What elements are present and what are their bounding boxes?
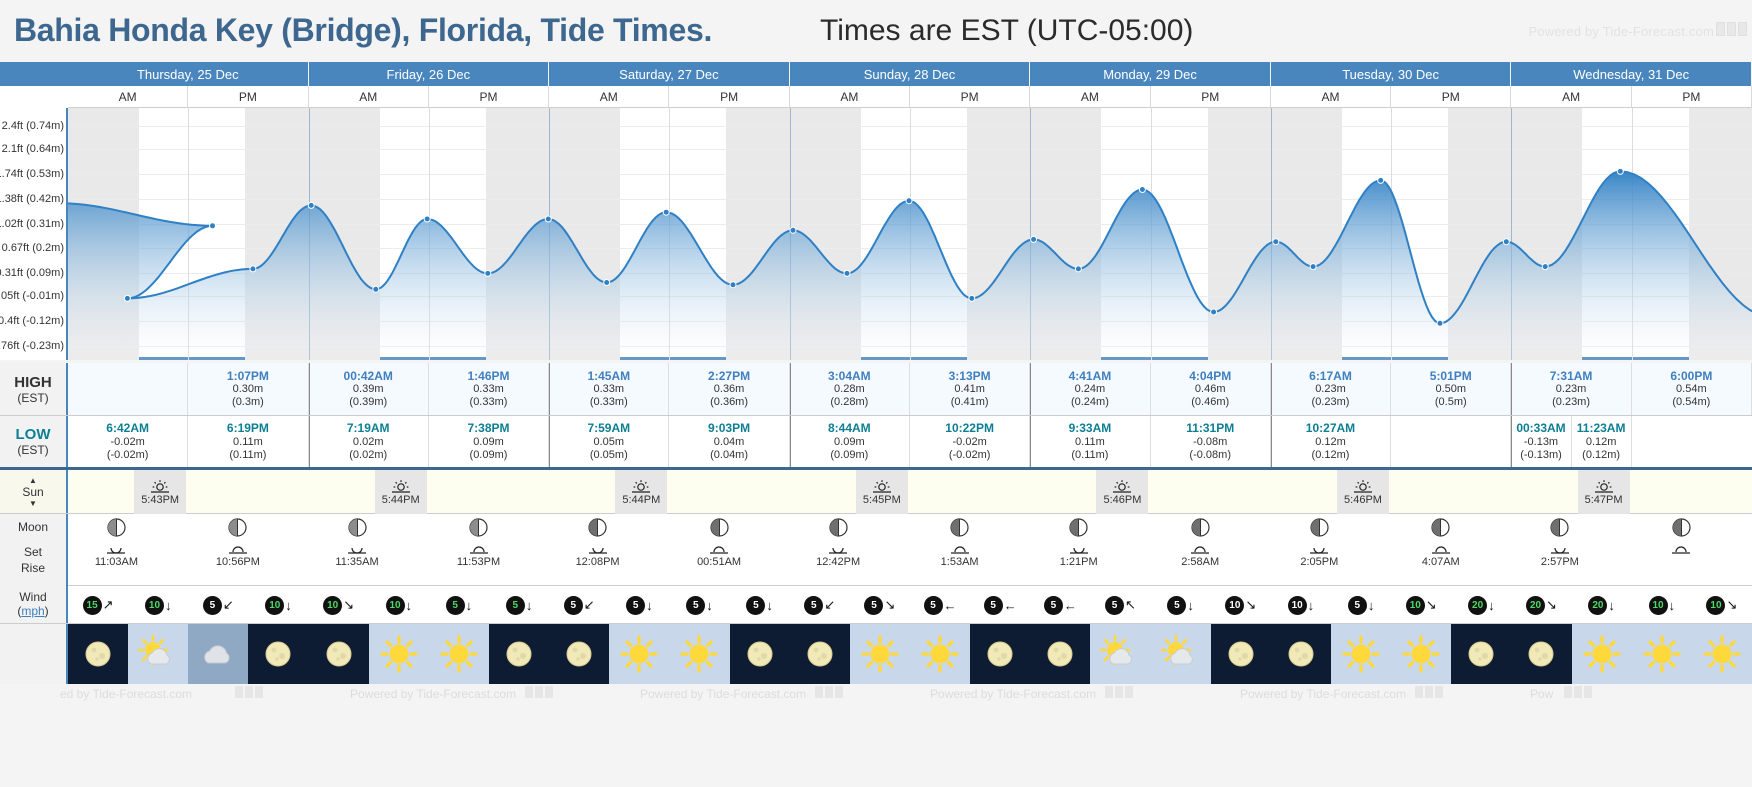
wind-cell: 10↘	[1215, 586, 1267, 624]
wind-direction-arrow-icon: ↘	[1245, 597, 1256, 613]
moon-icon	[78, 634, 118, 674]
wind-direction-arrow-icon: ↙	[223, 597, 234, 613]
wind-direction-arrow-icon: ↓	[1368, 598, 1375, 613]
low-tide-height: -0.02m	[953, 436, 987, 449]
day-header-6: Wednesday, 31 Dec	[1511, 62, 1752, 86]
sun-cloud-icon	[1100, 634, 1140, 674]
moon-phase-icon	[1550, 518, 1569, 537]
weather-cell	[489, 624, 549, 684]
sun-icon	[439, 634, 479, 674]
watermark-flags-footer	[815, 686, 843, 698]
wind-speed-badge: 5	[626, 596, 645, 615]
moon-set-cell: 11:03AM	[88, 514, 144, 586]
moon-set-time: 12:08PM	[576, 556, 620, 568]
high-tide-height: 0.46m	[1195, 383, 1226, 396]
wind-direction-arrow-icon: ↓	[406, 598, 413, 613]
page-footer: ed by Tide-Forecast.comPowered by Tide-F…	[0, 684, 1752, 787]
ampm-header-1-pm: PM	[429, 86, 549, 108]
low-tide-height-alt: (0.09m)	[830, 449, 868, 462]
low-tide-time: 10:22PM	[945, 421, 994, 435]
moonset-icon	[347, 542, 367, 555]
low-tide-cell: 7:19AM0.02m(0.02m)	[309, 416, 429, 467]
high-tide-cell: 6:17AM0.23m(0.23m)	[1271, 363, 1391, 415]
wind-cell: 10↓	[1636, 586, 1688, 624]
wind-speed-badge: 5	[203, 596, 222, 615]
moon-phase-icon	[710, 518, 729, 537]
wind-direction-arrow-icon: ↗	[103, 597, 114, 613]
sun-icon	[860, 634, 900, 674]
high-tide-height: 0.36m	[714, 383, 745, 396]
low-tide-cell: 8:44AM0.09m(0.09m)	[790, 416, 910, 467]
moon-row: Moon Set Rise 11:03AM10:56PM11:35AM11:53…	[0, 514, 1752, 586]
weather-cell	[1511, 624, 1571, 684]
tide-point-high[interactable]	[545, 216, 551, 222]
watermark-footer: Powered by Tide-Forecast.com	[640, 687, 806, 701]
high-tide-height-alt: (0.54m)	[1672, 396, 1710, 409]
tide-point-high[interactable]	[1503, 239, 1509, 245]
high-tide-time: 7:31AM	[1550, 369, 1593, 383]
high-tide-height-alt: (0.46m)	[1191, 396, 1229, 409]
high-tide-time: 6:17AM	[1309, 369, 1352, 383]
low-tide-cell: 11:31PM-0.08m(-0.08m)	[1151, 416, 1271, 467]
low-tide-height-alt: (0.02m)	[349, 449, 387, 462]
sunset-icon	[631, 479, 651, 494]
sun-set-time: 5:45PM	[863, 494, 901, 506]
wind-direction-arrow-icon: ↓	[285, 598, 292, 613]
sunrise-arrow-icon	[29, 476, 37, 485]
moon-phase-icon	[1191, 518, 1210, 537]
tide-point-low[interactable]	[485, 270, 491, 276]
sun-row: Sun 7:07AM5:43PM7:07AM5:44PM7:07AM5:44PM…	[0, 470, 1752, 514]
wind-cell: 5↙	[553, 586, 605, 624]
high-tide-cell: 4:41AM0.24m(0.24m)	[1030, 363, 1150, 415]
wind-cell: 5↓	[734, 586, 786, 624]
watermark-flags-top	[1716, 22, 1747, 36]
wind-cell: 5↙	[192, 586, 244, 624]
moon-phase-icon	[1672, 518, 1691, 537]
flag-icon	[1716, 22, 1725, 36]
moon-icon	[1521, 634, 1561, 674]
wind-speed-badge: 5	[746, 596, 765, 615]
tide-point-low[interactable]	[969, 295, 975, 301]
wind-unit-link[interactable]: (mph)	[17, 605, 48, 619]
weather-cell	[1151, 624, 1211, 684]
wind-cell: 10↓	[373, 586, 425, 624]
y-axis-tick-5: 0.67ft (0.2m)	[2, 242, 64, 254]
low-tide-height-alt: (-0.08m)	[1189, 449, 1231, 462]
moon-icon	[559, 634, 599, 674]
weather-row-label	[0, 624, 68, 684]
low-tide-time: 7:59AM	[587, 421, 630, 435]
tide-point-high[interactable]	[906, 198, 912, 204]
day-separator	[1511, 363, 1512, 415]
weather-cell	[1632, 624, 1692, 684]
moonrise-icon	[469, 542, 489, 555]
high-tide-height-alt: (0.39m)	[349, 396, 387, 409]
flag-icon	[825, 686, 833, 698]
wind-speed-badge: 10	[1649, 596, 1668, 615]
flag-icon	[1115, 686, 1123, 698]
wind-direction-arrow-icon: ↓	[526, 598, 533, 613]
high-tide-cell: 00:42AM0.39m(0.39m)	[309, 363, 429, 415]
tide-point-high[interactable]	[308, 202, 314, 208]
watermark-flags-footer	[235, 686, 263, 698]
ampm-header-5-pm: PM	[1391, 86, 1511, 108]
flag-icon	[255, 686, 263, 698]
tide-point-low[interactable]	[1437, 320, 1443, 326]
weather-cell	[369, 624, 429, 684]
moon-icon	[1461, 634, 1501, 674]
wind-cell: 10↓	[1275, 586, 1327, 624]
wind-speed-badge: 5	[686, 596, 705, 615]
y-axis-tick-3: 1.38ft (0.42m)	[0, 193, 64, 205]
wind-speed-badge: 5	[506, 596, 525, 615]
high-tide-height: 0.41m	[954, 383, 985, 396]
wind-cell: 5←	[914, 586, 966, 624]
flag-icon	[245, 686, 253, 698]
tide-point-low[interactable]	[604, 280, 610, 286]
moon-phase-icon	[829, 518, 848, 537]
flag-icon	[1738, 22, 1747, 36]
high-tide-height: 0.30m	[233, 383, 264, 396]
high-tide-height-alt: (0.33m)	[470, 396, 508, 409]
flag-icon	[1564, 686, 1572, 698]
low-tide-time: 6:19PM	[227, 421, 269, 435]
wind-cell: 5↓	[1335, 586, 1387, 624]
high-tide-height: 0.23m	[1556, 383, 1587, 396]
low-tide-height: 0.11m	[233, 436, 263, 449]
low-tide-height: 0.09m	[473, 436, 504, 449]
day-separator	[309, 363, 310, 415]
sun-cloud-icon	[138, 634, 178, 674]
tide-point-low[interactable]	[373, 286, 379, 292]
wind-speed-badge: 5	[1044, 596, 1063, 615]
tide-point-high[interactable]	[1617, 168, 1623, 174]
low-tide-cell: 7:59AM0.05m(0.05m)	[549, 416, 669, 467]
wind-speed-badge: 10	[145, 596, 164, 615]
low-tide-time: 9:33AM	[1069, 421, 1112, 435]
weather-icon-row	[0, 624, 1752, 684]
high-tide-time: 3:13PM	[949, 369, 991, 383]
flag-icon	[815, 686, 823, 698]
high-tide-time: 2:27PM	[708, 369, 750, 383]
high-tide-time: 1:07PM	[227, 369, 269, 383]
y-axis-tick-0: 2.4ft (0.74m)	[2, 120, 64, 132]
low-tide-cell: 7:38PM0.09m(0.09m)	[429, 416, 549, 467]
low-tide-cell	[1391, 416, 1511, 467]
watermark-flags-footer	[1564, 686, 1592, 698]
high-tide-time: 4:41AM	[1069, 369, 1112, 383]
wind-speed-badge: 5	[446, 596, 465, 615]
low-tide-label: LOW (EST)	[0, 416, 68, 467]
high-tide-cell	[68, 363, 188, 415]
sun-row-label: Sun	[0, 470, 68, 513]
moon-rise-time: 2:58AM	[1181, 556, 1219, 568]
high-tide-time: 3:04AM	[828, 369, 871, 383]
high-tide-height-alt: (0.23m)	[1312, 396, 1350, 409]
tide-chart-page: Bahia Honda Key (Bridge), Florida, Tide …	[0, 0, 1752, 787]
low-tide-height-alt: (0.09m)	[470, 449, 508, 462]
weather-cell	[188, 624, 248, 684]
y-axis-tick-1: 2.1ft (0.64m)	[2, 143, 64, 155]
moon-rise-cell: 10:56PM	[210, 514, 266, 586]
watermark-footer: ed by Tide-Forecast.com	[60, 687, 192, 701]
wind-speed-badge: 5	[1105, 596, 1124, 615]
high-tide-cell: 1:07PM0.30m(0.3m)	[188, 363, 308, 415]
moon-rise-time: 1:53AM	[941, 556, 979, 568]
day-separator	[1511, 416, 1512, 467]
moon-rise-time: 00:51AM	[697, 556, 741, 568]
sun-set-time: 5:46PM	[1103, 494, 1141, 506]
tide-point-high[interactable]	[1031, 236, 1037, 242]
tide-point-low[interactable]	[250, 266, 256, 272]
moon-set-cell: 1:21PM	[1051, 514, 1107, 586]
sun-set-cell: 5:43PM	[134, 470, 186, 514]
sun-set-time: 5:43PM	[141, 494, 179, 506]
y-axis-tick-4: 1.02ft (0.31m)	[0, 218, 64, 230]
moon-phase-icon	[348, 518, 367, 537]
low-tide-height: 0.12m	[1586, 436, 1617, 449]
weather-cell	[1090, 624, 1150, 684]
day-separator	[1271, 416, 1272, 467]
tide-graph-plot	[68, 108, 1752, 360]
sun-icon	[679, 634, 719, 674]
weather-cell	[1451, 624, 1511, 684]
y-axis-tick-9: -0.76ft (-0.23m)	[0, 340, 64, 352]
moon-phase-icon	[1310, 518, 1329, 537]
wind-cell: 10↓	[132, 586, 184, 624]
watermark-top: Powered by Tide-Forecast.com	[1528, 24, 1714, 39]
sun-icon	[1341, 634, 1381, 674]
low-tide-row: LOW (EST) 6:42AM-0.02m(-0.02m)6:19PM0.11…	[0, 416, 1752, 470]
wind-row: Wind (mph) 15↗10↓5↙10↓10↘10↓5↓5↓5↙5↓5↓5↓…	[0, 586, 1752, 624]
low-tide-height: 0.11m	[1075, 436, 1105, 449]
sunset-arrow-icon	[29, 499, 37, 508]
ampm-header-3-pm: PM	[910, 86, 1030, 108]
page-title: Bahia Honda Key (Bridge), Florida, Tide …	[14, 12, 712, 49]
sunset-icon	[150, 479, 170, 494]
wind-direction-arrow-icon: ↓	[706, 598, 713, 613]
low-tide-cell: 10:27AM0.12m(0.12m)	[1271, 416, 1391, 467]
moon-phase-icon	[950, 518, 969, 537]
day-header-2: Saturday, 27 Dec	[549, 62, 790, 86]
weather-cell	[429, 624, 489, 684]
wind-direction-arrow-icon: ↓	[1669, 598, 1676, 613]
moon-set-time: 2:05PM	[1300, 556, 1338, 568]
moon-icon	[740, 634, 780, 674]
sun-set-time: 5:44PM	[622, 494, 660, 506]
wind-direction-arrow-icon: ↘	[1426, 597, 1437, 613]
weather-cell	[609, 624, 669, 684]
flag-icon	[1415, 686, 1423, 698]
wind-cell: 10↘	[1696, 586, 1748, 624]
low-tide-time: 8:44AM	[828, 421, 871, 435]
ampm-header-4-am: AM	[1030, 86, 1150, 108]
moonset-icon	[588, 542, 608, 555]
moon-phase-icon	[228, 518, 247, 537]
moonset-icon	[1550, 542, 1570, 555]
watermark-footer: Powered by Tide-Forecast.com	[350, 687, 516, 701]
low-tide-height: -0.13m	[1524, 436, 1558, 449]
weather-cell	[1271, 624, 1331, 684]
low-tide-cell: 9:03PM0.04m(0.04m)	[669, 416, 789, 467]
tide-curve	[68, 108, 1752, 360]
low-tide-height: 0.02m	[353, 436, 384, 449]
wind-speed-badge: 10	[1706, 596, 1725, 615]
low-tide-height-alt: (0.12m)	[1312, 449, 1350, 462]
day-header-3: Sunday, 28 Dec	[790, 62, 1031, 86]
tide-y-axis: 2.4ft (0.74m)2.1ft (0.64m)1.74ft (0.53m)…	[0, 108, 68, 360]
high-tide-height-alt: (0.41m)	[951, 396, 989, 409]
wind-direction-arrow-icon: ↓	[1308, 598, 1315, 613]
page-header: Bahia Honda Key (Bridge), Florida, Tide …	[0, 0, 1752, 62]
moon-phase-icon	[1431, 518, 1450, 537]
tide-point-low[interactable]	[1542, 264, 1548, 270]
moonset-icon	[1069, 542, 1089, 555]
sun-set-cell: 5:44PM	[375, 470, 427, 514]
low-tide-height: 0.12m	[1315, 436, 1346, 449]
flag-icon	[835, 686, 843, 698]
low-tide-height-alt: (0.05m)	[590, 449, 628, 462]
moon-icon	[980, 634, 1020, 674]
moonrise-icon	[228, 542, 248, 555]
low-tide-height: 0.04m	[714, 436, 745, 449]
wind-speed-badge: 20	[1588, 596, 1607, 615]
ampm-header-2-pm: PM	[669, 86, 789, 108]
ampm-header-6-pm: PM	[1632, 86, 1752, 108]
watermark-flags-footer	[1415, 686, 1443, 698]
wind-cell: 5↓	[613, 586, 665, 624]
high-tide-height-alt: (0.5m)	[1435, 396, 1467, 409]
moonrise-icon	[1190, 542, 1210, 555]
high-tide-height: 0.24m	[1075, 383, 1106, 396]
high-tide-time: 00:42AM	[344, 369, 393, 383]
low-tide-cell: 6:42AM-0.02m(-0.02m)	[68, 416, 188, 467]
watermark-flags-footer	[525, 686, 553, 698]
low-tide-time: 9:03PM	[708, 421, 750, 435]
wind-speed-badge: 15	[83, 596, 102, 615]
wind-direction-arrow-icon: ↙	[584, 597, 595, 613]
wind-cell: 5←	[1034, 586, 1086, 624]
wind-cell: 5↓	[1155, 586, 1207, 624]
wind-cell: 15↗	[72, 586, 124, 624]
high-tide-label: HIGH (EST)	[0, 363, 68, 415]
tide-point-high[interactable]	[663, 209, 669, 215]
wind-direction-arrow-icon: ↓	[646, 598, 653, 613]
moon-phase-icon	[588, 518, 607, 537]
sunset-icon	[872, 479, 892, 494]
tide-point-high[interactable]	[424, 216, 430, 222]
tide-graph: 2.4ft (0.74m)2.1ft (0.64m)1.74ft (0.53m)…	[0, 108, 1752, 360]
sun-set-time: 5:47PM	[1585, 494, 1623, 506]
day-header-5: Tuesday, 30 Dec	[1271, 62, 1512, 86]
tide-point-high[interactable]	[210, 223, 216, 229]
moon-set-cell: 2:57PM	[1532, 514, 1588, 586]
weather-cell	[1391, 624, 1451, 684]
moon-set-time: 12:42PM	[816, 556, 860, 568]
low-tide-time: 11:23AM	[1577, 421, 1626, 435]
moon-rise-time: 10:56PM	[216, 556, 260, 568]
day-header-4: Monday, 29 Dec	[1030, 62, 1271, 86]
wind-row-label: Wind (mph)	[0, 586, 68, 623]
ampm-header-2-am: AM	[549, 86, 669, 108]
moon-row-label: Moon Set Rise	[0, 514, 68, 586]
wind-speed-badge: 10	[1225, 596, 1244, 615]
tide-point-low[interactable]	[1211, 309, 1217, 315]
flag-icon	[525, 686, 533, 698]
moon-rise-cell: 4:07AM	[1413, 514, 1469, 586]
sun-icon	[1642, 634, 1682, 674]
wind-cell: 5↘	[854, 586, 906, 624]
moon-icon	[800, 634, 840, 674]
high-tide-height-alt: (0.33m)	[590, 396, 628, 409]
low-tide-height-alt: (0.12m)	[1582, 449, 1620, 462]
sun-set-cell: 5:45PM	[856, 470, 908, 514]
wind-direction-arrow-icon: ↘	[1546, 597, 1557, 613]
tide-point-low[interactable]	[730, 282, 736, 288]
low-tide-height: -0.08m	[1193, 436, 1227, 449]
tide-point-low[interactable]	[124, 295, 130, 301]
weather-cell	[309, 624, 369, 684]
watermark-flags-footer	[1105, 686, 1133, 698]
wind-direction-arrow-icon: ←	[1004, 598, 1017, 613]
moon-icon	[258, 634, 298, 674]
high-tide-cell: 2:27PM0.36m(0.36m)	[669, 363, 789, 415]
wind-direction-arrow-icon: ↙	[824, 597, 835, 613]
weather-cell	[128, 624, 188, 684]
wind-speed-badge: 5	[984, 596, 1003, 615]
tide-point-low[interactable]	[1310, 264, 1316, 270]
sunset-icon	[1353, 479, 1373, 494]
ampm-header-3-am: AM	[790, 86, 910, 108]
tide-point-high[interactable]	[1139, 187, 1145, 193]
day-header-1: Friday, 26 Dec	[309, 62, 550, 86]
wind-cell: 5←	[974, 586, 1026, 624]
moon-set-time: 1:21PM	[1060, 556, 1098, 568]
tide-point-low[interactable]	[1075, 266, 1081, 272]
wind-direction-arrow-icon: ↓	[1187, 598, 1194, 613]
day-separator	[1030, 416, 1031, 467]
moon-phase-icon	[107, 518, 126, 537]
moon-phase-icon	[1069, 518, 1088, 537]
low-tide-height: 0.09m	[834, 436, 865, 449]
flag-icon	[535, 686, 543, 698]
wind-direction-arrow-icon: ←	[1064, 598, 1077, 613]
y-axis-tick-8: -0.4ft (-0.12m)	[0, 315, 64, 327]
low-tide-time: 00:33AM	[1516, 421, 1565, 435]
flag-icon	[545, 686, 553, 698]
day-separator	[549, 416, 550, 467]
ampm-header-4-pm: PM	[1151, 86, 1271, 108]
low-tide-cell: 00:33AM-0.13m(-0.13m)	[1511, 416, 1571, 467]
low-tide-time: 6:42AM	[106, 421, 149, 435]
tide-point-high[interactable]	[790, 227, 796, 233]
high-tide-cell: 1:45AM0.33m(0.33m)	[549, 363, 669, 415]
tide-point-high[interactable]	[1378, 177, 1384, 183]
wind-speed-badge: 5	[1167, 596, 1186, 615]
y-axis-tick-2: 1.74ft (0.53m)	[0, 168, 64, 180]
wind-speed-badge: 5	[564, 596, 583, 615]
tide-point-low[interactable]	[844, 270, 850, 276]
tide-point-high[interactable]	[1273, 239, 1279, 245]
low-tide-cell: 10:22PM-0.02m(-0.02m)	[910, 416, 1030, 467]
sunset-icon	[1112, 479, 1132, 494]
weather-cell	[669, 624, 729, 684]
weather-cell	[790, 624, 850, 684]
wind-direction-arrow-icon: ↓	[466, 598, 473, 613]
moon-set-cell: 11:35AM	[329, 514, 385, 586]
wind-direction-arrow-icon: ↓	[1488, 598, 1495, 613]
